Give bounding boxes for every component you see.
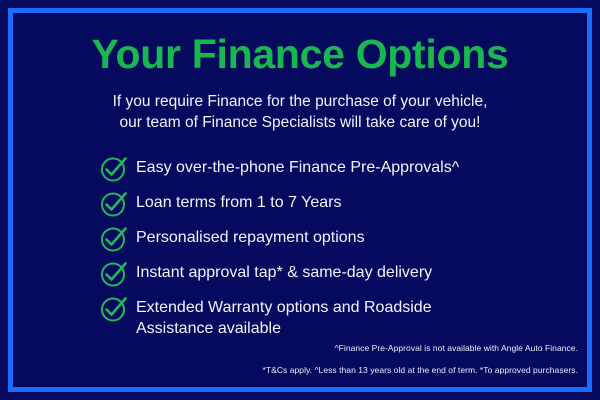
list-item-label: Extended Warranty options and Roadside A…	[136, 293, 520, 339]
list-item-label: Instant approval tap* & same-day deliver…	[136, 258, 520, 283]
banner-subtitle: If you require Finance for the purchase …	[0, 91, 600, 133]
list-item-label: Easy over-the-phone Finance Pre-Approval…	[136, 153, 520, 178]
list-item: Instant approval tap* & same-day deliver…	[100, 258, 520, 286]
subtitle-line-2: our team of Finance Specialists will tak…	[0, 112, 600, 133]
benefits-list: Easy over-the-phone Finance Pre-Approval…	[100, 153, 520, 339]
disclaimer: ^Finance Pre-Approval is not available w…	[263, 337, 578, 381]
page-title: Your Finance Options	[0, 30, 600, 78]
list-item: Loan terms from 1 to 7 Years	[100, 188, 520, 216]
list-item: Personalised repayment options	[100, 223, 520, 251]
banner-content: Your Finance Options If you require Fina…	[0, 0, 600, 400]
subtitle-line-1: If you require Finance for the purchase …	[0, 91, 600, 112]
list-item: Extended Warranty options and Roadside A…	[100, 293, 520, 339]
check-circle-icon	[100, 260, 128, 288]
check-circle-icon	[100, 225, 128, 253]
disclaimer-line-1: ^Finance Pre-Approval is not available w…	[263, 337, 578, 359]
check-circle-icon	[100, 155, 128, 183]
check-circle-icon	[100, 190, 128, 218]
list-item-label: Loan terms from 1 to 7 Years	[136, 188, 520, 213]
disclaimer-line-2: *T&Cs apply. ^Less than 13 years old at …	[263, 359, 578, 381]
list-item-label: Personalised repayment options	[136, 223, 520, 248]
list-item: Easy over-the-phone Finance Pre-Approval…	[100, 153, 520, 181]
finance-options-banner: Your Finance Options If you require Fina…	[0, 0, 600, 400]
check-circle-icon	[100, 295, 128, 323]
